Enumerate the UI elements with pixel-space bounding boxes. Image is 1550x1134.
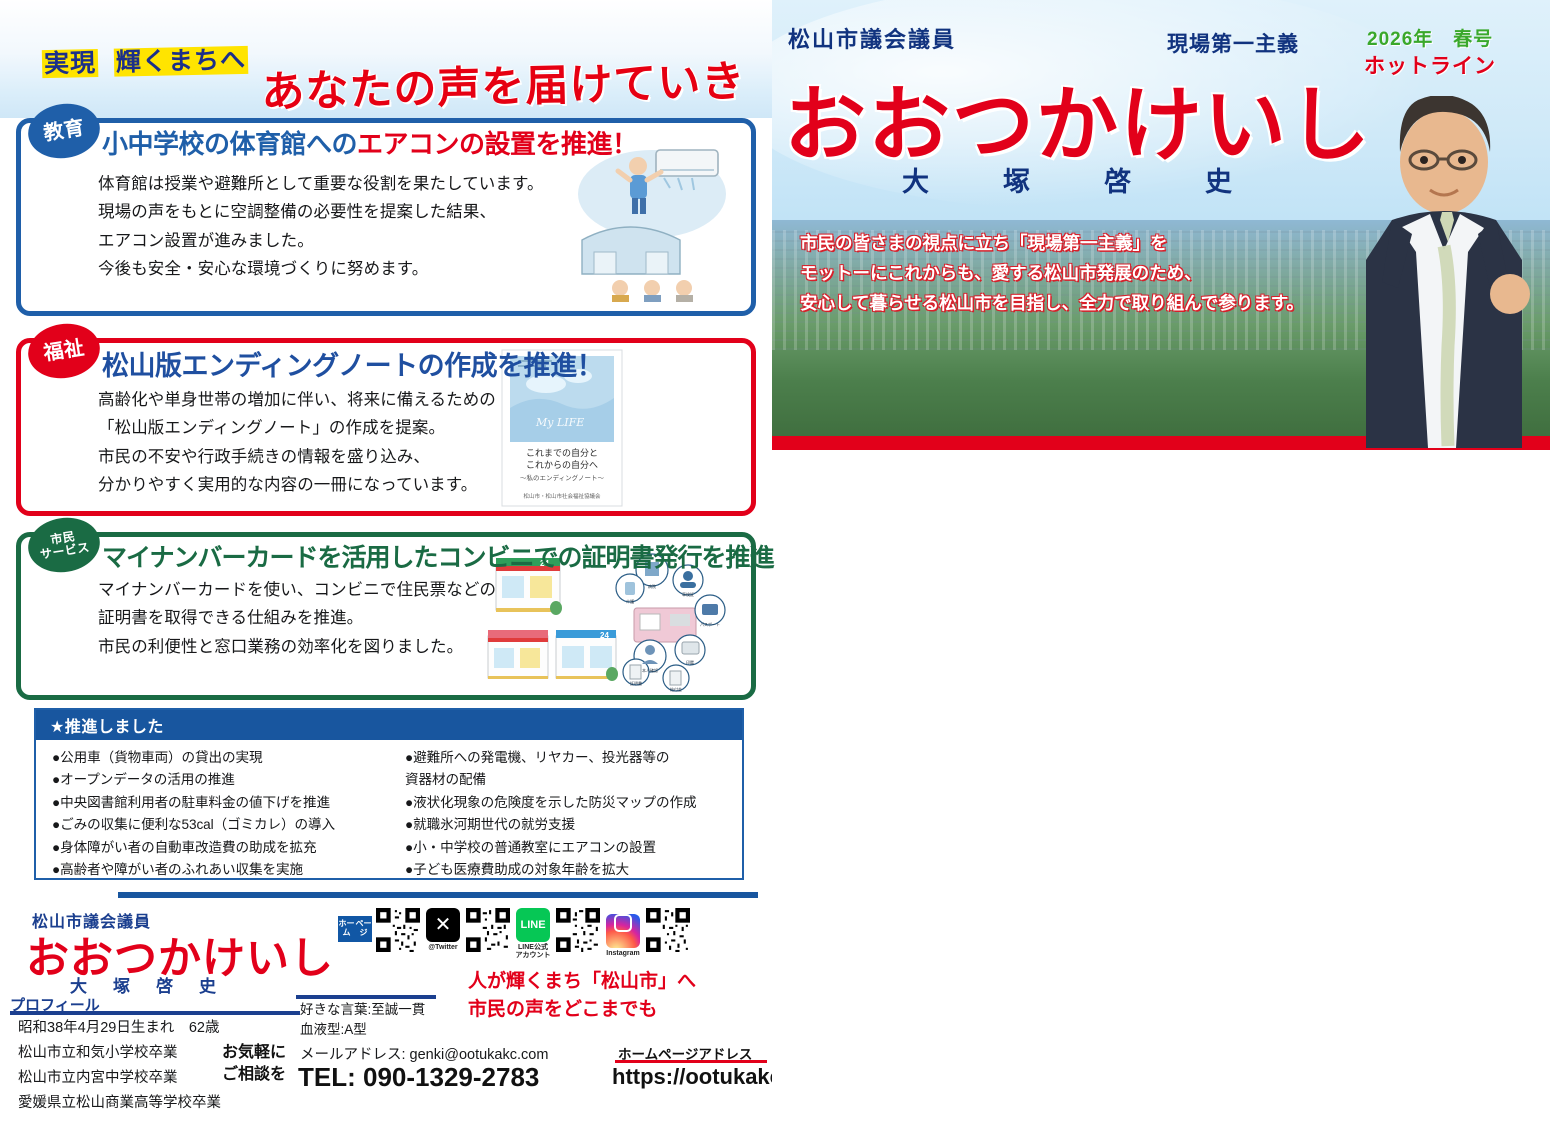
list-item: 資器材の配備 <box>405 769 742 790</box>
text-line: @Twitter <box>424 944 462 952</box>
text-line: 「松山版エンディングノート」の作成を提案。 <box>98 414 496 442</box>
achievements-column-right: ●避難所への発電機、リヤカー、投光器等の資器材の配備●液状化現象の危険度を示した… <box>389 747 742 882</box>
qr-line[interactable] <box>556 908 600 952</box>
list-item: ●中央図書館利用者の駐車料金の値下げを推進 <box>52 792 389 813</box>
profile-rule <box>10 1011 300 1015</box>
text-line: 松山市立内宮中学校卒業 <box>18 1066 221 1091</box>
hero-motto: 現場第一主義 <box>1167 28 1299 58</box>
text-line: 市民の声をどこまでも <box>468 996 696 1024</box>
x-twitter-label: @Twitter <box>424 944 462 952</box>
favourite-words: 好きな言葉:至誠一貫血液型:A型 <box>300 1000 425 1039</box>
text-line: エアコン設置が進みました。 <box>98 227 544 255</box>
book-title-line2: これからの自分へ <box>526 459 598 470</box>
list-item: ●子ども医療費助成の対象年齢を拡大 <box>405 859 742 880</box>
svg-text:車検証: 車検証 <box>682 591 694 597</box>
list-item: ●小・中学校の普通教室にエアコンの設置 <box>405 837 742 858</box>
list-item: ●オープンデータの活用の推進 <box>52 769 389 790</box>
candidate-portrait-photo <box>1332 96 1542 448</box>
text-line: 安心して暮らせる松山市を目指し、全力で取り組んで参ります。 <box>800 288 1320 318</box>
text-line: 好きな言葉:至誠一貫 <box>300 1000 425 1020</box>
text-line: 人が輝くまち「松山市」へ <box>468 968 696 996</box>
svg-text:本人確認: 本人確認 <box>642 667 658 673</box>
card-body-education: 体育館は授業や避難所として重要な役割を果たしています。現場の声をもとに空調整備の… <box>98 170 544 284</box>
text-line: 高齢化や単身世帯の増加に伴い、将来に備えるための <box>98 386 496 414</box>
homepage-badge-icon: ホームページ <box>338 916 372 942</box>
achievements-heading: ★推進しました <box>36 710 742 740</box>
card-body-welfare: 高齢化や単身世帯の増加に伴い、将来に備えるための「松山版エンディングノート」の作… <box>98 386 496 500</box>
text-line: 愛媛県立松山商業高等学校卒業 <box>18 1091 221 1116</box>
svg-text:My LIFE: My LIFE <box>535 416 584 429</box>
text-line: ページ <box>355 920 372 938</box>
consult-invite: お気軽にご相談を <box>222 1042 286 1085</box>
hero-banner: 松山市議会議員 現場第一主義 2026年 春号 ホットライン おおつかけいし 大… <box>772 0 1550 450</box>
text-line: ホーム <box>338 920 355 938</box>
policy-card-welfare: 福祉 松山版エンディングノートの作成を推進！ 高齢化や単身世帯の増加に伴い、将来… <box>16 338 756 516</box>
email-address[interactable]: メールアドレス: genki@ootukakc.com <box>300 1043 548 1064</box>
text-line: 市民の皆さまの視点に立ち「現場第一主義」を <box>800 228 1320 258</box>
qr-instagram[interactable] <box>646 908 690 952</box>
qr-twitter[interactable] <box>466 908 510 952</box>
card-title-welfare: 松山版エンディングノートの作成を推進！ <box>102 344 603 383</box>
text-line: 昭和38年4月29日生まれ 62歳 <box>18 1016 221 1041</box>
text-line: 分かりやすく実用的な内容の一冊になっています。 <box>98 471 496 499</box>
left-page: 実現 輝くまちへ あなたの声を届けていきます 教育 小中学校の体育館へのエアコン… <box>0 0 772 1134</box>
line-label: LINE公式アカウント <box>514 944 552 960</box>
book-subtitle: ～私のエンディングノート～ <box>520 473 604 482</box>
tagline-highlight-1: 実現 <box>42 49 99 78</box>
hero-name-kanji: 大塚啓史 <box>902 160 1306 199</box>
hero-issue-label: 2026年 春号 <box>1367 24 1493 51</box>
text-line: 現場の声をもとに空調整備の必要性を提案した結果、 <box>98 198 544 226</box>
list-item: ●公用車（貨物車両）の貸出の実現 <box>52 747 389 768</box>
text-line: Instagram <box>604 950 642 958</box>
profile-list: 昭和38年4月29日生まれ 62歳松山市立和気小学校卒業松山市立内宮中学校卒業愛… <box>18 1016 221 1116</box>
text-line: 市民の利便性と窓口業務の効率化を図りました。 <box>98 633 496 661</box>
svg-text:介護: 介護 <box>626 598 634 604</box>
list-item: ●高齢者や障がい者のふれあい収集を実施 <box>52 859 389 880</box>
svg-text:証明書: 証明書 <box>630 680 642 686</box>
svg-text:病院: 病院 <box>648 583 656 589</box>
text-line: 証明書を取得できる仕組みを推進。 <box>98 604 496 632</box>
tagline: 実現 輝くまちへ <box>42 40 249 80</box>
card-title-accent: エアコンの設置を推進！ <box>357 129 638 159</box>
line-icon[interactable]: LINE LINE公式アカウント <box>514 908 552 960</box>
list-item: ●液状化現象の危険度を示した防災マップの作成 <box>405 792 742 813</box>
qr-code-row: ホームページ ✕ @Twitter <box>338 908 690 960</box>
telephone-number[interactable]: TEL: 090-1329-2783 <box>298 1062 539 1093</box>
text-line: お気軽に <box>222 1042 286 1064</box>
hero-message-text: 市民の皆さまの視点に立ち「現場第一主義」をモットーにこれからも、愛する松山市発展… <box>800 228 1320 318</box>
policy-card-education: 教育 小中学校の体育館へのエアコンの設置を推進！ 体育館は授業や避難所として重要… <box>16 118 756 316</box>
text-line: モットーにこれからも、愛する松山市発展のため、 <box>800 258 1320 288</box>
tagline-highlight-2: 輝くまちへ <box>114 46 249 77</box>
achievements-columns: ●公用車（貨物車両）の貸出の実現●オープンデータの活用の推進●中央図書館利用者の… <box>36 740 742 882</box>
homepage-rule <box>615 1060 767 1063</box>
card-title-plain: 小中学校の体育館への <box>102 129 357 159</box>
footer-divider <box>118 892 758 898</box>
text-line: マイナンバーカードを使い、コンビニで住民票などの <box>98 576 496 604</box>
text-line: 血液型:A型 <box>300 1020 425 1040</box>
list-item: ●避難所への発電機、リヤカー、投光器等の <box>405 747 742 768</box>
book-title-line1: これまでの自分と <box>526 447 598 458</box>
svg-text:パスポート: パスポート <box>700 621 720 627</box>
list-item: ●身体障がい者の自動車改造費の助成を拡充 <box>52 837 389 858</box>
right-page: 松山市議会議員 現場第一主義 2026年 春号 ホットライン おおつかけいし 大… <box>772 0 1550 1134</box>
badge-line-2: サービス <box>39 541 90 561</box>
policy-card-city-service: 市民 サービス マイナンバーカードを活用したコンビニでの証明書発行を推進 マイナ… <box>16 532 756 700</box>
instagram-icon[interactable]: Instagram <box>604 908 642 958</box>
text-line: アカウント <box>514 952 552 960</box>
newsletter-page: 実現 輝くまちへ あなたの声を届けていきます 教育 小中学校の体育館へのエアコン… <box>0 0 1550 1134</box>
text-line: LINE公式 <box>514 944 552 952</box>
list-item: ●就職氷河期世代の就労支援 <box>405 814 742 835</box>
text-line: 今後も安全・安心な環境づくりに努めます。 <box>98 255 544 283</box>
list-item: ●ごみの収集に便利な53cal（ゴミカレ）の導入 <box>52 814 389 835</box>
book-publisher: 松山市・松山市社会福祉協議会 <box>523 492 601 500</box>
svg-text:24: 24 <box>600 631 609 640</box>
card-title-city-service: マイナンバーカードを活用したコンビニでの証明書発行を推進 <box>102 538 774 574</box>
likes-rule <box>296 995 436 999</box>
instagram-label: Instagram <box>604 950 642 958</box>
hero-message-box: 市民の皆さまの視点に立ち「現場第一主義」をモットーにこれからも、愛する松山市発展… <box>800 228 1320 318</box>
card-title-education: 小中学校の体育館へのエアコンの設置を推進！ <box>102 124 638 161</box>
svg-text:印鑑: 印鑑 <box>686 659 694 665</box>
card-body-city-service: マイナンバーカードを使い、コンビニで住民票などの証明書を取得できる仕組みを推進。… <box>98 576 496 661</box>
text-line: 体育館は授業や避難所として重要な役割を果たしています。 <box>98 170 544 198</box>
text-line: ご相談を <box>222 1064 286 1086</box>
hero-hotline-label: ホットライン <box>1364 50 1496 80</box>
text-line: 松山市立和気小学校卒業 <box>18 1041 221 1066</box>
x-twitter-icon[interactable]: ✕ @Twitter <box>424 908 462 952</box>
footer-slogan: 人が輝くまち「松山市」へ市民の声をどこまでも <box>468 968 696 1023</box>
hero-office-title: 松山市議会議員 <box>788 22 956 54</box>
svg-text:給付金: 給付金 <box>670 686 682 692</box>
achievements-box: ★推進しました ●公用車（貨物車両）の貸出の実現●オープンデータの活用の推進●中… <box>34 708 744 880</box>
qr-homepage[interactable] <box>376 908 420 952</box>
text-line: 市民の不安や行政手続きの情報を盛り込み、 <box>98 443 496 471</box>
achievements-column-left: ●公用車（貨物車両）の貸出の実現●オープンデータの活用の推進●中央図書館利用者の… <box>36 747 389 882</box>
